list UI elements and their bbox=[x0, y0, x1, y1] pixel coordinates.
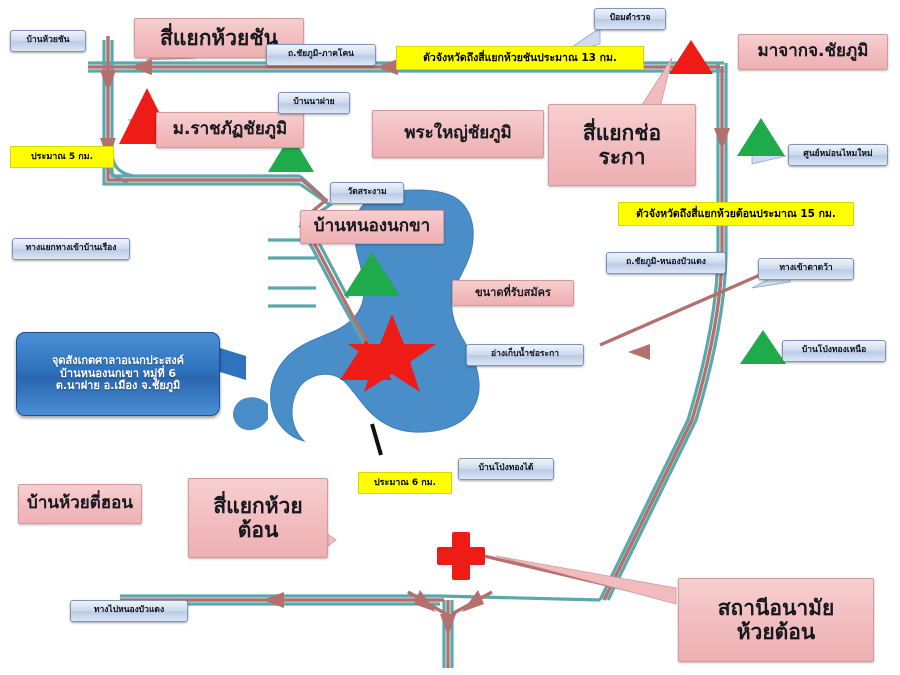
callout-label-line1: สี่แยกช่อ bbox=[583, 121, 661, 145]
callout-label: ขนาดที่รับสมัคร bbox=[475, 287, 551, 300]
callout-si-yaek-huai-ton[interactable]: สี่แยกห้วย ต้อน bbox=[188, 478, 328, 558]
tag-ban-na-fai[interactable]: บ้านนาฝาย bbox=[278, 92, 350, 114]
distance-tag-huai-ton: ตัวจังหวัดถึงสี่แยกห้วยต้อนประมาณ 15 กม. bbox=[618, 202, 854, 226]
tag-label: ถ.ชัยภูมิ-ภาคโคน bbox=[288, 50, 354, 60]
callout-label: ม.ราชภัฏชัยภูมิ bbox=[173, 120, 287, 140]
distance-label: ตัวจังหวัดถึงสี่แยกห้วยต้อนประมาณ 15 กม. bbox=[636, 208, 836, 220]
distance-label: ประมาณ 5 กม. bbox=[31, 152, 93, 162]
tag-thanon-chaiyaphum-nong-bua-daeng[interactable]: ถ.ชัยภูมิ-หนองบัวแดง bbox=[606, 252, 726, 274]
callout-label-line1: สถานีอนามัย bbox=[718, 596, 835, 620]
green-triangle-marker bbox=[737, 118, 785, 156]
red-triangle-marker bbox=[669, 40, 713, 74]
callout-label: บ้านห้วยตี่ฮอน bbox=[27, 494, 133, 514]
tag-wat-sa-ngam[interactable]: วัดสระงาม bbox=[330, 182, 404, 204]
tag-thang-pai-nong-bua-daeng[interactable]: ทางไปหนองบัวแดง bbox=[70, 600, 188, 622]
tag-label: ทางไปหนองบัวแดง bbox=[94, 606, 164, 616]
callout-sathani-anamai-huai-ton[interactable]: สถานีอนามัย ห้วยต้อน bbox=[678, 578, 874, 662]
tag-label: ถ.ชัยภูมิ-หนองบัวแดง bbox=[626, 258, 706, 268]
callout-label-line2: ต้อน bbox=[238, 518, 279, 542]
inlet-line bbox=[372, 424, 381, 455]
tag-label: ทางเข้าตาดว้า bbox=[779, 264, 832, 274]
route-map: สี่แยกห้วยชัน สี่แยกช่อ ระกา สี่แยกห้วย … bbox=[0, 0, 900, 675]
callout-mor-rajabhat-chaiyaphum[interactable]: ม.ราชภัฏชัยภูมิ bbox=[156, 112, 304, 148]
callout-label: พระใหญ่ชัยภูมิ bbox=[404, 124, 511, 144]
distance-tag-6km: ประมาณ 6 กม. bbox=[358, 472, 452, 494]
tag-label: วัดสระงาม bbox=[347, 188, 386, 198]
callout-si-yaek-cho-raka[interactable]: สี่แยกช่อ ระกา bbox=[548, 104, 696, 186]
callout-label-line2: ห้วยต้อน bbox=[737, 620, 816, 644]
distance-tag-5km: ประมาณ 5 กม. bbox=[10, 146, 114, 168]
tag-ban-pong-thong-mue[interactable]: บ้านโป่งทองเหนือ bbox=[782, 340, 886, 362]
tag-thanon-chaiyaphum-phak-khon[interactable]: ถ.ชัยภูมิ-ภาคโคน bbox=[266, 44, 376, 66]
callout-label: บ้านหนองนกขา bbox=[314, 217, 430, 237]
tag-sun-kasikam-mai[interactable]: ศูนย์หม่อนไหมใหม่ bbox=[788, 144, 888, 166]
distance-label: ตัวจังหวัดถึงสี่แยกห้วยชันประมาณ 13 กม. bbox=[423, 52, 617, 64]
tag-thang-khao-tat-wa[interactable]: ทางเข้าตาดว้า bbox=[758, 258, 854, 280]
callout-label: มาจากจ.ชัยภูมิ bbox=[758, 42, 869, 62]
tag-ban-pong-thong-dai[interactable]: บ้านโป่งทองได้ bbox=[458, 458, 554, 480]
info-line-1: จุดสังเกตศาลาอเนกประสงค์ bbox=[52, 355, 184, 368]
health-station-cross-marker bbox=[437, 532, 485, 580]
callout-khanat-thi-rap-samak[interactable]: ขนาดที่รับสมัคร bbox=[452, 280, 574, 306]
callout-ma-chak-chaiyaphum[interactable]: มาจากจ.ชัยภูมิ bbox=[738, 34, 888, 70]
callout-label-line1: สี่แยกห้วย bbox=[213, 494, 302, 518]
info-line-3: ต.นาฝาย อ.เมือง จ.ชัยภูมิ bbox=[56, 380, 181, 393]
destination-info-box[interactable]: จุดสังเกตศาลาอเนกประสงค์ บ้านหนองนกเขา ห… bbox=[16, 332, 220, 416]
callout-ban-huai-phon[interactable]: บ้านห้วยตี่ฮอน bbox=[18, 484, 142, 524]
tag-label: ป้อมตำรวจ bbox=[610, 14, 651, 24]
distance-label: ประมาณ 6 กม. bbox=[374, 478, 436, 488]
distance-tag-huai-chan: ตัวจังหวัดถึงสี่แยกห้วยชันประมาณ 13 กม. bbox=[396, 46, 644, 70]
green-triangle-marker bbox=[740, 330, 786, 364]
tag-thang-yaek-khao-ban-rueang[interactable]: ทางแยกทางเข้าบ้านเรือง bbox=[12, 238, 130, 260]
tag-ban-huai-chan[interactable]: บ้านห้วยชัน bbox=[10, 30, 86, 52]
tag-pom-tamruat[interactable]: ป้อมตำรวจ bbox=[594, 8, 666, 30]
callout-label-line2: ระกา bbox=[598, 145, 645, 169]
tag-label: บ้านโป่งทองเหนือ bbox=[802, 346, 866, 356]
tag-label: อ่างเก็บน้ำช่อระกา bbox=[491, 350, 559, 360]
callout-phra-yai-chaiyaphum[interactable]: พระใหญ่ชัยภูมิ bbox=[372, 110, 544, 158]
tag-label: ทางแยกทางเข้าบ้านเรือง bbox=[26, 244, 117, 254]
tag-ang-kep-nam-cho-raka[interactable]: อ่างเก็บน้ำช่อระกา bbox=[466, 344, 584, 366]
callout-ban-nong-nok-khao[interactable]: บ้านหนองนกขา bbox=[300, 210, 444, 244]
tag-label: บ้านโป่งทองได้ bbox=[479, 464, 534, 474]
tag-label: บ้านนาฝาย bbox=[293, 98, 334, 108]
tag-label: ศูนย์หม่อนไหมใหม่ bbox=[803, 150, 872, 160]
tag-label: บ้านห้วยชัน bbox=[27, 36, 70, 46]
callout-label: สี่แยกห้วยชัน bbox=[160, 26, 278, 50]
